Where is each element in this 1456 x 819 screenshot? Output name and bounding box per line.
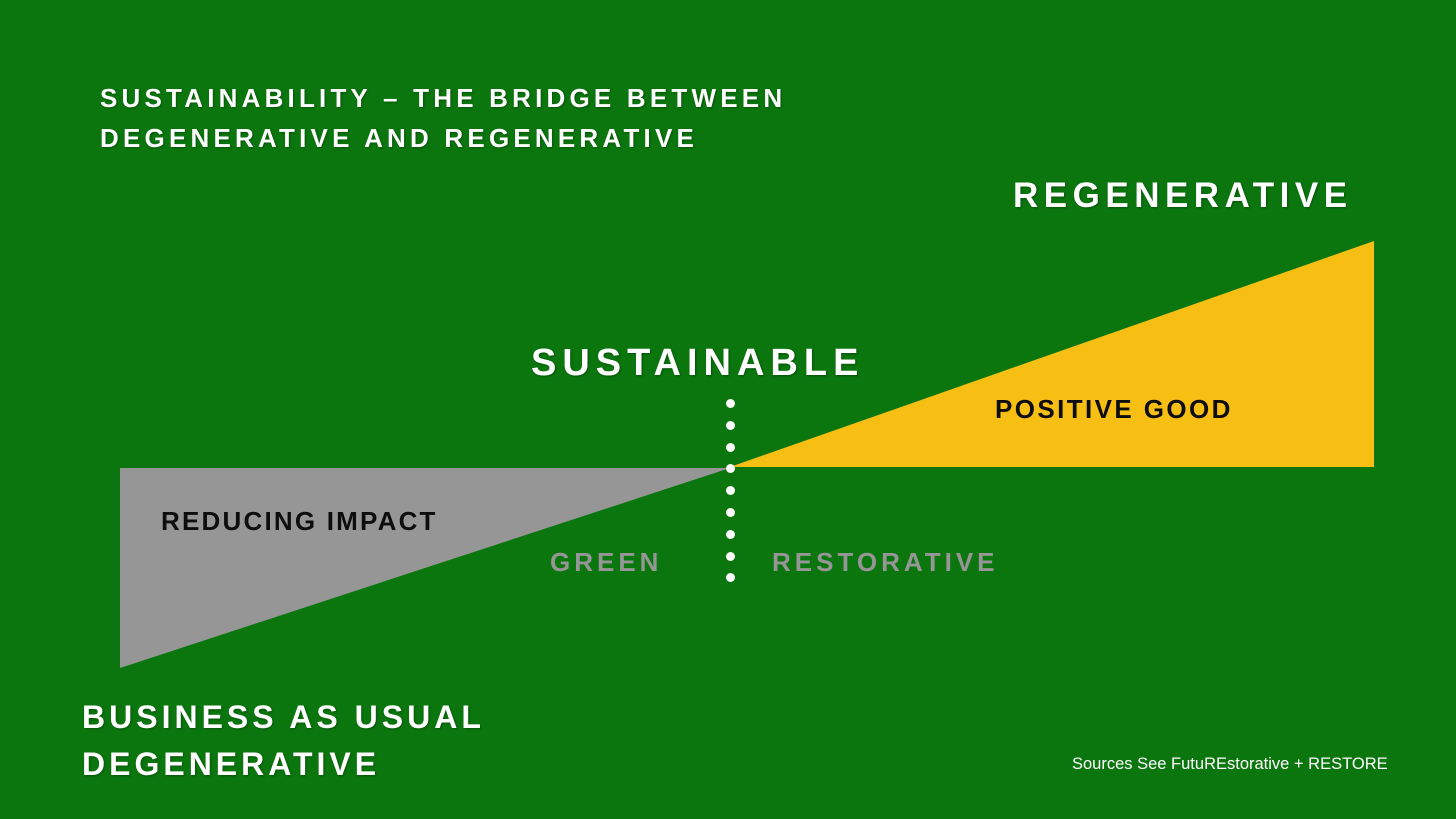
divider-dot — [726, 399, 735, 408]
divider-dot — [726, 421, 735, 430]
label-reducing-impact: REDUCING IMPACT — [161, 508, 438, 534]
label-business-as-usual-degenerative: BUSINESS AS USUAL DEGENERATIVE — [82, 694, 722, 788]
divider-dot — [726, 486, 735, 495]
divider-dot — [726, 508, 735, 517]
label-positive-good: POSITIVE GOOD — [995, 396, 1233, 422]
divider-dot — [726, 464, 735, 473]
divider-dot — [726, 552, 735, 561]
divider-dot — [726, 573, 735, 582]
slide-title: SUSTAINABILITY – THE BRIDGE BETWEEN DEGE… — [100, 78, 800, 158]
slide-canvas: SUSTAINABILITY – THE BRIDGE BETWEEN DEGE… — [0, 0, 1456, 819]
label-green: GREEN — [550, 549, 662, 575]
divider-dot — [726, 530, 735, 539]
divider-dot — [726, 443, 735, 452]
label-regenerative: REGENERATIVE — [1013, 178, 1353, 213]
label-sustainable: SUSTAINABLE — [531, 344, 864, 382]
label-restorative: RESTORATIVE — [772, 549, 999, 575]
sources-credit: Sources See FutuREstorative + RESTORE — [1072, 756, 1388, 773]
